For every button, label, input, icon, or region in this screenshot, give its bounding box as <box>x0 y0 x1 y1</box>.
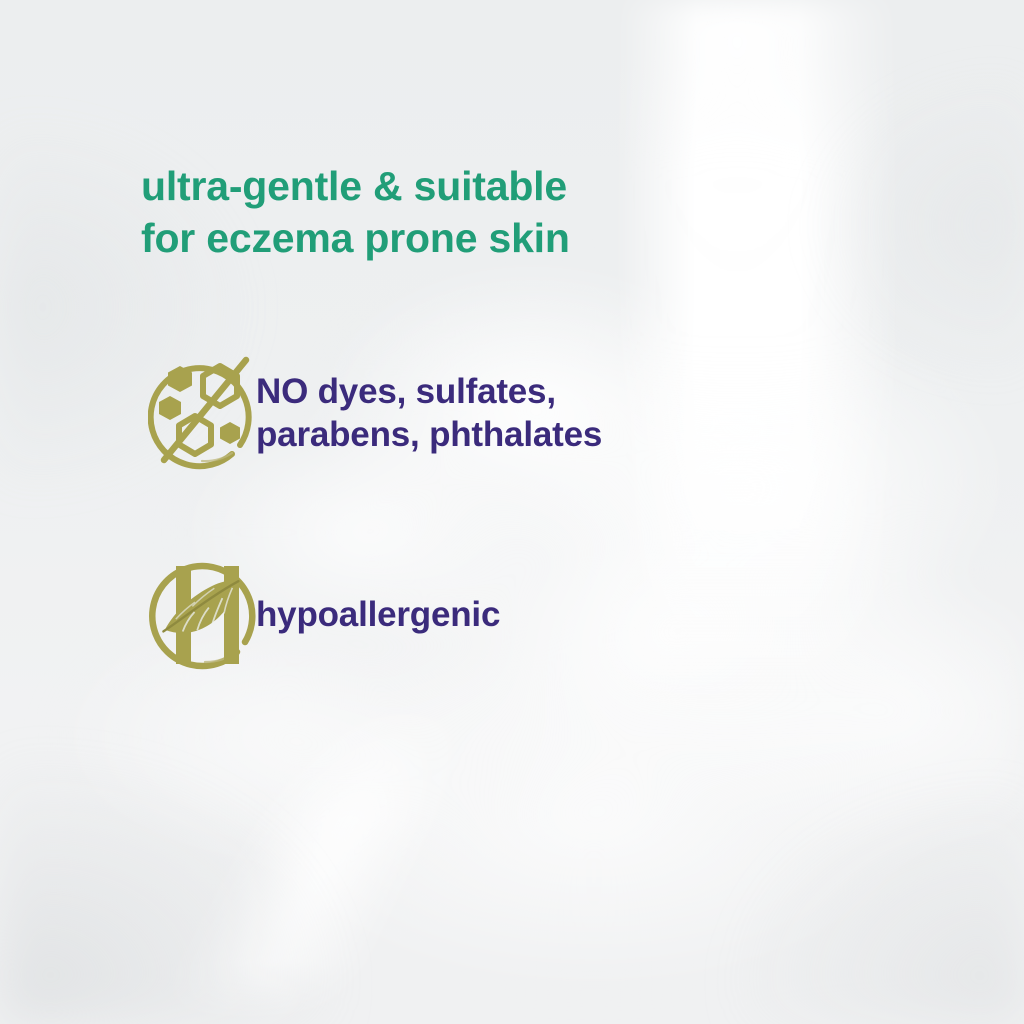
claim-label-hypoallergenic: hypoallergenic <box>256 593 500 636</box>
claim-1-line-1: hypoallergenic <box>256 593 500 636</box>
headline-line-2: for eczema prone skin <box>141 212 701 264</box>
product-claims-panel: ultra-gentle & suitable for eczema prone… <box>0 0 1024 1024</box>
headline-line-1: ultra-gentle & suitable <box>141 160 701 212</box>
hypoallergenic-h-feather-icon <box>148 538 264 690</box>
claim-row-no-chemicals: NO dyes, sulfates, parabens, phthalates <box>148 338 602 488</box>
claim-row-hypoallergenic: hypoallergenic <box>148 538 500 690</box>
claim-0-line-1: NO dyes, sulfates, <box>256 370 602 413</box>
no-chemicals-molecule-slash-icon <box>148 338 260 488</box>
content-root: ultra-gentle & suitable for eczema prone… <box>0 0 1024 1024</box>
claim-0-line-2: parabens, phthalates <box>256 413 602 456</box>
headline: ultra-gentle & suitable for eczema prone… <box>141 160 701 264</box>
claim-label-no-chemicals: NO dyes, sulfates, parabens, phthalates <box>256 370 602 456</box>
